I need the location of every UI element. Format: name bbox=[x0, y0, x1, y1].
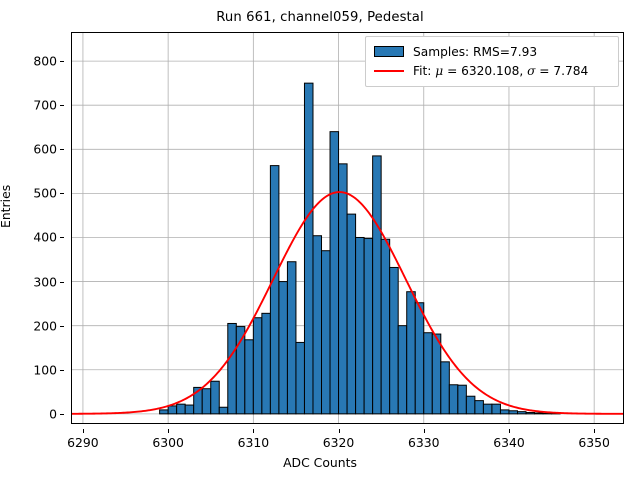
histogram-bar bbox=[339, 164, 348, 414]
x-tick-label: 6350 bbox=[578, 435, 610, 450]
histogram-bar bbox=[424, 333, 433, 414]
legend-label-fit: Fit: μ = 6320.108, σ = 7.784 bbox=[413, 64, 588, 78]
histogram-bar bbox=[304, 83, 313, 414]
y-tick-mark bbox=[60, 105, 64, 106]
chart-canvas bbox=[71, 32, 624, 424]
x-tick-mark bbox=[424, 429, 425, 433]
x-tick-mark bbox=[509, 429, 510, 433]
matplotlib-figure: Run 661, channel059, Pedestal 0100200300… bbox=[0, 0, 640, 480]
y-tick-mark bbox=[60, 282, 64, 283]
histogram-bar bbox=[160, 410, 169, 414]
x-tick-label: 6300 bbox=[152, 435, 184, 450]
y-tick-label: 800 bbox=[33, 54, 57, 69]
histogram-bar bbox=[398, 326, 407, 414]
x-tick-label: 6340 bbox=[493, 435, 525, 450]
histogram-bar bbox=[270, 166, 279, 414]
plot-axes bbox=[71, 32, 624, 424]
histogram-bar bbox=[526, 413, 535, 414]
y-tick-mark bbox=[60, 193, 64, 194]
histogram-bar bbox=[449, 385, 458, 414]
y-tick-mark bbox=[60, 326, 64, 327]
histogram-bar bbox=[262, 313, 271, 414]
histogram-bar bbox=[177, 404, 186, 414]
x-tick-mark bbox=[83, 429, 84, 433]
y-tick-label: 500 bbox=[33, 186, 57, 201]
y-tick-mark bbox=[60, 61, 64, 62]
x-axis-tick-labels: 6290630063106320633063406350 bbox=[71, 429, 624, 449]
y-axis-tick-labels: 0100200300400500600700800 bbox=[0, 32, 64, 424]
histogram-bar bbox=[287, 262, 296, 414]
y-tick-label: 300 bbox=[33, 274, 57, 289]
legend-line-icon bbox=[374, 65, 404, 76]
y-tick-mark bbox=[60, 370, 64, 371]
histogram-bar bbox=[322, 251, 331, 414]
y-tick-mark bbox=[60, 149, 64, 150]
histogram-bar bbox=[185, 405, 194, 414]
x-axis-label: ADC Counts bbox=[0, 455, 640, 470]
histogram-bar bbox=[228, 323, 237, 413]
histogram-bars bbox=[160, 83, 560, 414]
histogram-bar bbox=[279, 282, 288, 414]
y-tick-label: 700 bbox=[33, 98, 57, 113]
histogram-bar bbox=[330, 132, 339, 414]
histogram-bar bbox=[432, 334, 441, 414]
legend: Samples: RMS=7.93 Fit: μ = 6320.108, σ =… bbox=[365, 36, 619, 87]
y-tick-label: 200 bbox=[33, 318, 57, 333]
x-tick-label: 6320 bbox=[323, 435, 355, 450]
histogram-bar bbox=[356, 237, 365, 413]
histogram-bar bbox=[415, 303, 424, 414]
fit-mu-value: 6320.108 bbox=[461, 64, 519, 78]
histogram-bar bbox=[245, 340, 254, 414]
y-tick-label: 0 bbox=[49, 406, 57, 421]
histogram-bar bbox=[509, 411, 518, 414]
histogram-bar bbox=[219, 407, 228, 414]
histogram-bar bbox=[492, 404, 501, 414]
histogram-bar bbox=[407, 292, 416, 414]
x-tick-label: 6290 bbox=[67, 435, 99, 450]
legend-patch-icon bbox=[374, 46, 404, 57]
x-tick-mark bbox=[339, 429, 340, 433]
histogram-bar bbox=[296, 342, 305, 413]
x-tick-mark bbox=[253, 429, 254, 433]
histogram-bar bbox=[202, 389, 211, 414]
histogram-bar bbox=[466, 396, 475, 414]
legend-item-samples: Samples: RMS=7.93 bbox=[374, 42, 610, 61]
y-tick-label: 400 bbox=[33, 230, 57, 245]
histogram-bar bbox=[347, 214, 356, 414]
x-tick-mark bbox=[594, 429, 595, 433]
x-tick-label: 6330 bbox=[408, 435, 440, 450]
histogram-bar bbox=[253, 318, 262, 414]
legend-label-samples: Samples: RMS=7.93 bbox=[413, 45, 537, 59]
page-title: Run 661, channel059, Pedestal bbox=[0, 10, 640, 25]
histogram-bar bbox=[475, 401, 484, 414]
histogram-bar bbox=[373, 156, 382, 414]
histogram-bar bbox=[381, 239, 390, 414]
y-tick-mark bbox=[60, 237, 64, 238]
histogram-bar bbox=[390, 267, 399, 413]
y-tick-mark bbox=[60, 414, 64, 415]
histogram-bar bbox=[313, 236, 322, 414]
histogram-bar bbox=[364, 238, 373, 413]
histogram-bar bbox=[211, 381, 220, 414]
histogram-bar bbox=[168, 406, 177, 414]
histogram-bar bbox=[500, 410, 509, 414]
histogram-bar bbox=[441, 362, 450, 414]
legend-item-fit: Fit: μ = 6320.108, σ = 7.784 bbox=[374, 61, 610, 80]
x-tick-label: 6310 bbox=[238, 435, 270, 450]
x-tick-mark bbox=[168, 429, 169, 433]
fit-sigma-value: 7.784 bbox=[553, 64, 588, 78]
histogram-bar bbox=[517, 412, 526, 414]
histogram-bar bbox=[483, 404, 492, 414]
histogram-bar bbox=[535, 413, 544, 414]
y-tick-label: 100 bbox=[33, 362, 57, 377]
y-tick-label: 600 bbox=[33, 142, 57, 157]
y-axis-label: Entries bbox=[0, 185, 13, 228]
histogram-bar bbox=[458, 385, 467, 414]
